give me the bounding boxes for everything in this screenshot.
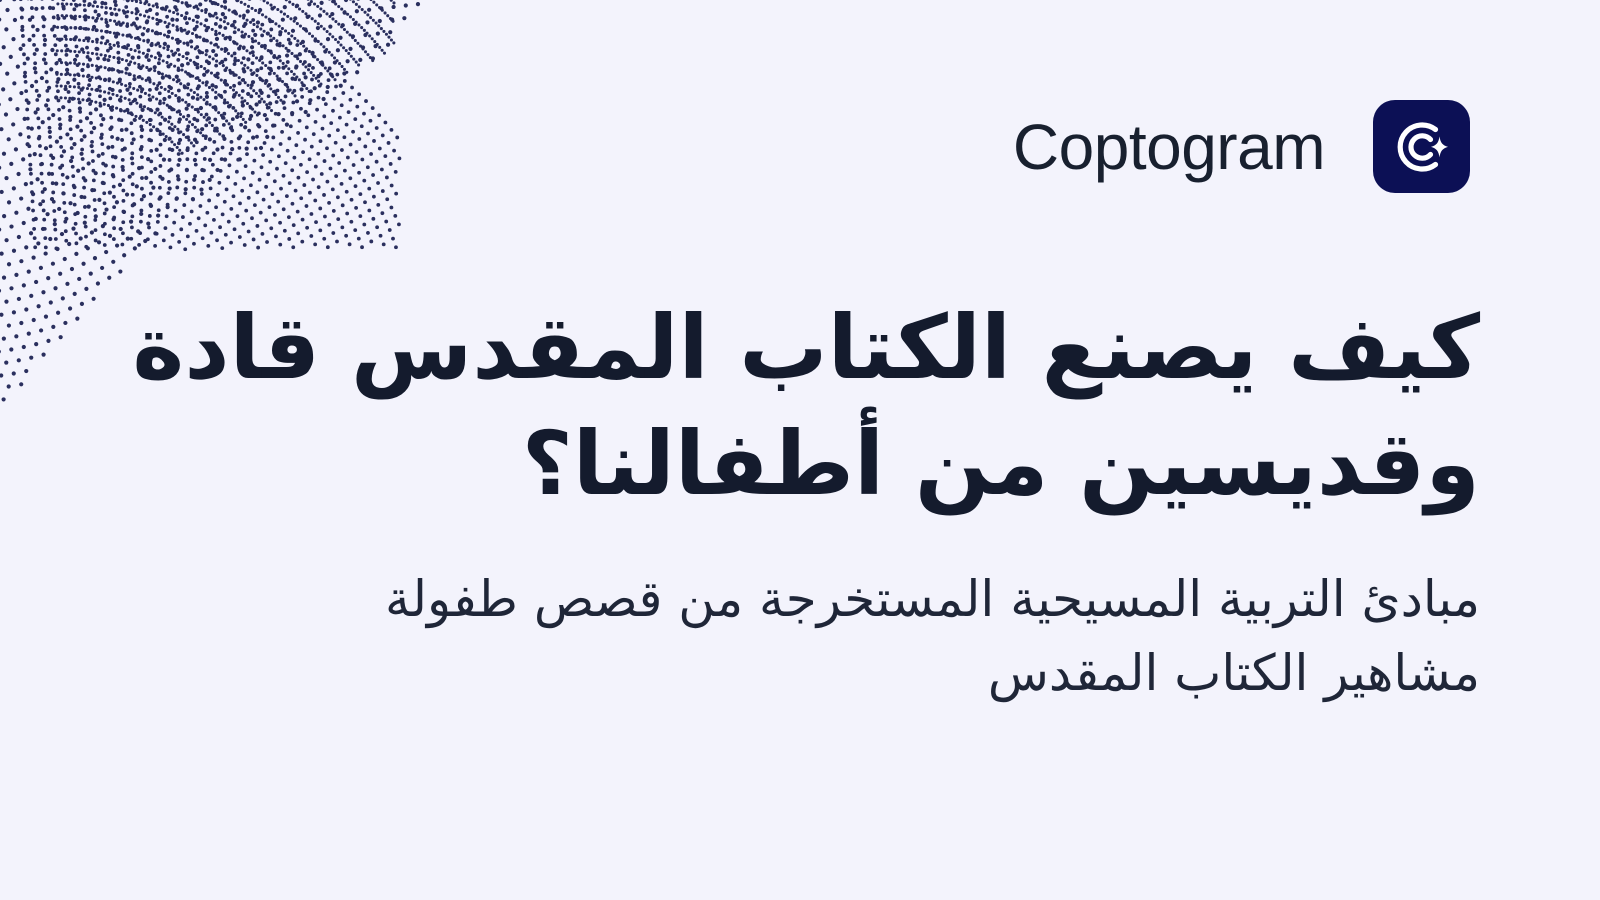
text-block: كيف يصنع الكتاب المقدس قادة وقديسين من أ… (120, 290, 1480, 710)
title-card: Coptogram كيف يصنع الكتاب المقدس قادة وق… (0, 0, 1600, 900)
subtitle-line-2: مشاهير الكتاب المقدس (120, 636, 1480, 710)
headline-line-2: وقديسين من أطفالنا؟ (120, 406, 1480, 522)
page-subtitle: مبادئ التربية المسيحية المستخرجة من قصص … (120, 562, 1480, 710)
brand-name: Coptogram (1013, 115, 1325, 179)
page-title: كيف يصنع الكتاب المقدس قادة وقديسين من أ… (120, 290, 1480, 522)
coptogram-c-sparkle-icon (1373, 100, 1470, 193)
brand-lockup: Coptogram (1013, 100, 1470, 193)
headline-line-1: كيف يصنع الكتاب المقدس قادة (120, 290, 1480, 406)
subtitle-line-1: مبادئ التربية المسيحية المستخرجة من قصص … (120, 562, 1480, 636)
